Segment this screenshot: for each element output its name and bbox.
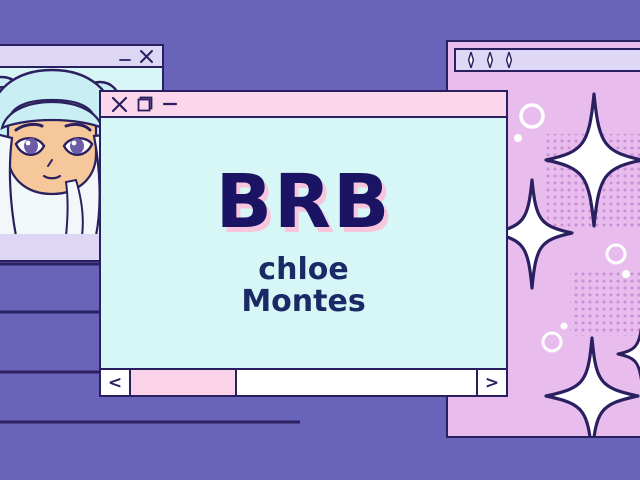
close-icon[interactable] — [111, 96, 128, 113]
circle-outline — [521, 105, 543, 127]
circle-dot — [622, 270, 630, 278]
circle-outline — [543, 333, 561, 351]
avatar-window-titlebar — [0, 46, 162, 68]
brb-heading: BRB — [216, 167, 392, 237]
brb-window-titlebar — [101, 92, 506, 118]
close-icon[interactable] — [139, 49, 154, 64]
screenshot-canvas: BRB chloe Montes < > — [0, 0, 640, 480]
minimize-icon[interactable] — [162, 96, 178, 112]
circle-outline — [607, 245, 625, 263]
avatar-eye-highlight-left — [26, 141, 31, 146]
scroll-right-button[interactable]: > — [476, 370, 506, 395]
brb-window-body: BRB chloe Montes — [101, 118, 506, 368]
avatar-eye-highlight-right — [72, 141, 77, 146]
minimize-icon[interactable] — [119, 50, 132, 63]
artist-last-name: Montes — [241, 286, 365, 318]
scroll-left-button[interactable]: < — [101, 370, 131, 395]
circle-dot — [514, 134, 522, 142]
maximize-icon[interactable] — [137, 96, 153, 112]
brb-window: BRB chloe Montes < > — [99, 90, 508, 397]
right-window-titlebar — [454, 48, 640, 72]
artist-first-name: chloe — [241, 254, 365, 286]
artist-name: chloe Montes — [241, 254, 365, 319]
avatar-iris-left — [24, 138, 38, 154]
circle-dot — [561, 323, 568, 330]
horizontal-scrollbar[interactable]: < > — [101, 368, 506, 395]
scrollbar-track[interactable] — [131, 370, 476, 395]
diamond-icon — [483, 52, 497, 68]
scrollbar-thumb[interactable] — [131, 370, 237, 395]
diamond-icon — [502, 52, 516, 68]
avatar-iris-right — [70, 138, 84, 154]
diamond-icon — [464, 52, 478, 68]
